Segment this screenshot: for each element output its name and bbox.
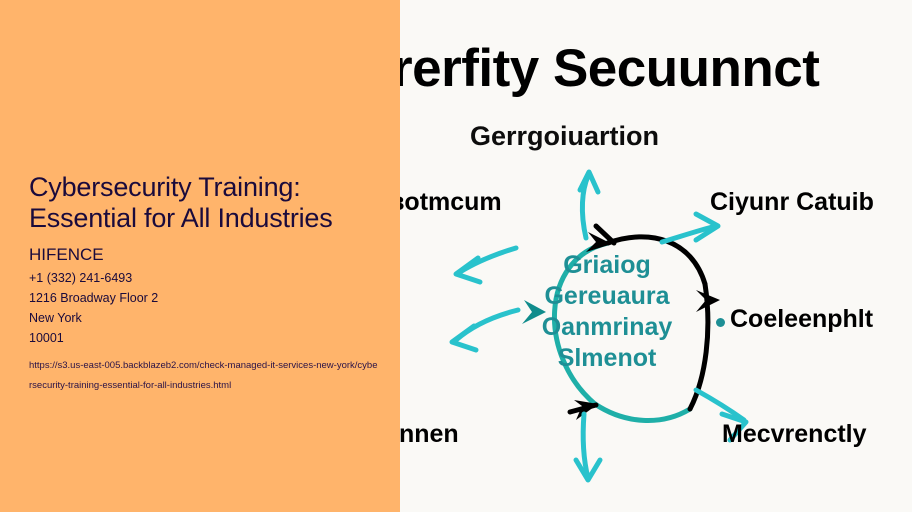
company-zip: 10001: [29, 328, 389, 348]
diagram-label-left-bottom: innen: [400, 420, 459, 449]
company-street-address: 1216 Broadway Floor 2: [29, 288, 389, 308]
arrow-up-head: [580, 172, 598, 192]
poster-page: Cybersecurity Training: Essential for Al…: [0, 0, 912, 512]
arrowhead-bottom-tick: [570, 405, 596, 412]
illustration-heading: rerfity Secuunnct: [400, 38, 912, 99]
bullet-dot-icon: [716, 318, 725, 327]
diagram-label-right-bottom: Mecvrenctly: [722, 420, 867, 449]
arrow-upper-left-stem: [456, 310, 518, 340]
page-title: Cybersecurity Training: Essential for Al…: [29, 172, 374, 234]
company-name: HIFENCE: [29, 244, 389, 266]
illustration-subheading: Gerrgoiuartion: [470, 121, 659, 152]
diagram-center-text: Griaiog Gereuaura Oanmrinay Slmenot: [512, 250, 702, 374]
company-city: New York: [29, 308, 389, 328]
arrow-left-stem: [460, 248, 516, 272]
article-info-block: Cybersecurity Training: Essential for Al…: [29, 172, 389, 396]
company-phone[interactable]: +1 (332) 241-6493: [29, 268, 389, 288]
diagram-label-right-middle: Coeleenphlt: [730, 305, 873, 334]
cybersecurity-diagram-image: rerfity Secuunnct Gerrgoiuartion зotmcum…: [400, 0, 912, 512]
source-url-link[interactable]: https://s3.us-east-005.backblazeb2.com/c…: [29, 356, 379, 396]
diagram-label-right-top: Ciyunr Catuib: [710, 188, 874, 217]
arrow-upper-left-head: [452, 326, 476, 350]
left-info-panel: Cybersecurity Training: Essential for Al…: [0, 0, 400, 512]
diagram-label-left-top: зotmcum: [400, 188, 502, 217]
circle-arc-bottom-left: [595, 404, 690, 420]
